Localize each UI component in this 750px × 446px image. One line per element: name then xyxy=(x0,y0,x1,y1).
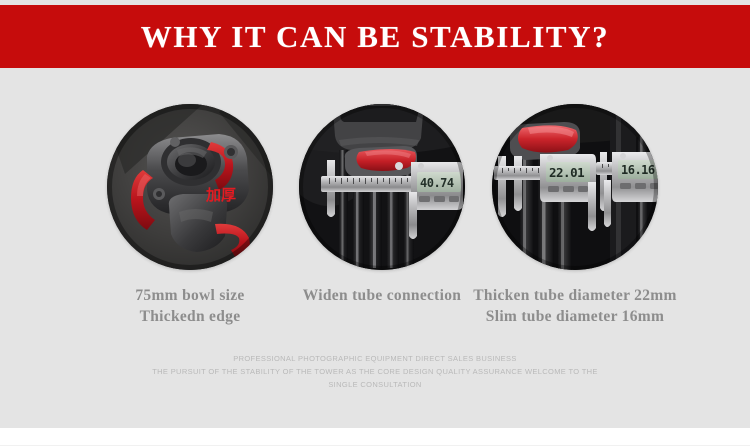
feature-image-tube-connection: 40.74 xyxy=(299,104,465,270)
caliper-reading-slim-display: 16.16 xyxy=(621,163,655,177)
caliper-reading-display: 40.74 xyxy=(420,176,454,190)
feature-row: 加厚 75mm bowl size Thickedn edge xyxy=(0,104,750,334)
caliper-reading-thick-display: 22.01 xyxy=(549,165,584,180)
footer-line-3: SINGLE CONSULTATION xyxy=(0,378,750,391)
page-title: WHY IT CAN BE STABILITY? xyxy=(141,21,610,52)
caption-line-1: Widen tube connection xyxy=(303,287,461,304)
feature-caption-tube-diameter: Thicken tube diameter 22mm Slim tube dia… xyxy=(473,286,676,328)
feature-image-tube-diameter: 22.01 xyxy=(492,104,658,270)
overlay-text-thicken: 加厚 xyxy=(205,186,236,204)
header-banner: WHY IT CAN BE STABILITY? xyxy=(0,5,750,68)
footer-line-2: THE PURSUIT OF THE STABILITY OF THE TOWE… xyxy=(0,365,750,378)
promo-banner-page: WHY IT CAN BE STABILITY? xyxy=(0,0,750,445)
feature-image-bowl-size: 加厚 xyxy=(107,104,273,270)
footer-line-1: PROFESSIONAL PHOTOGRAPHIC EQUIPMENT DIRE… xyxy=(0,352,750,365)
caption-line-2: Slim tube diameter 16mm xyxy=(473,307,676,328)
feature-caption-bowl-size: 75mm bowl size Thickedn edge xyxy=(135,286,244,328)
feature-tube-diameter: 22.01 xyxy=(455,104,695,328)
caption-line-1: Thicken tube diameter 22mm xyxy=(473,287,676,304)
bottom-strip xyxy=(0,428,750,446)
caption-line-2: Thickedn edge xyxy=(135,307,244,328)
feature-caption-tube-connection: Widen tube connection xyxy=(303,286,461,307)
footer-fine-print: PROFESSIONAL PHOTOGRAPHIC EQUIPMENT DIRE… xyxy=(0,352,750,391)
caption-line-1: 75mm bowl size xyxy=(135,287,244,304)
